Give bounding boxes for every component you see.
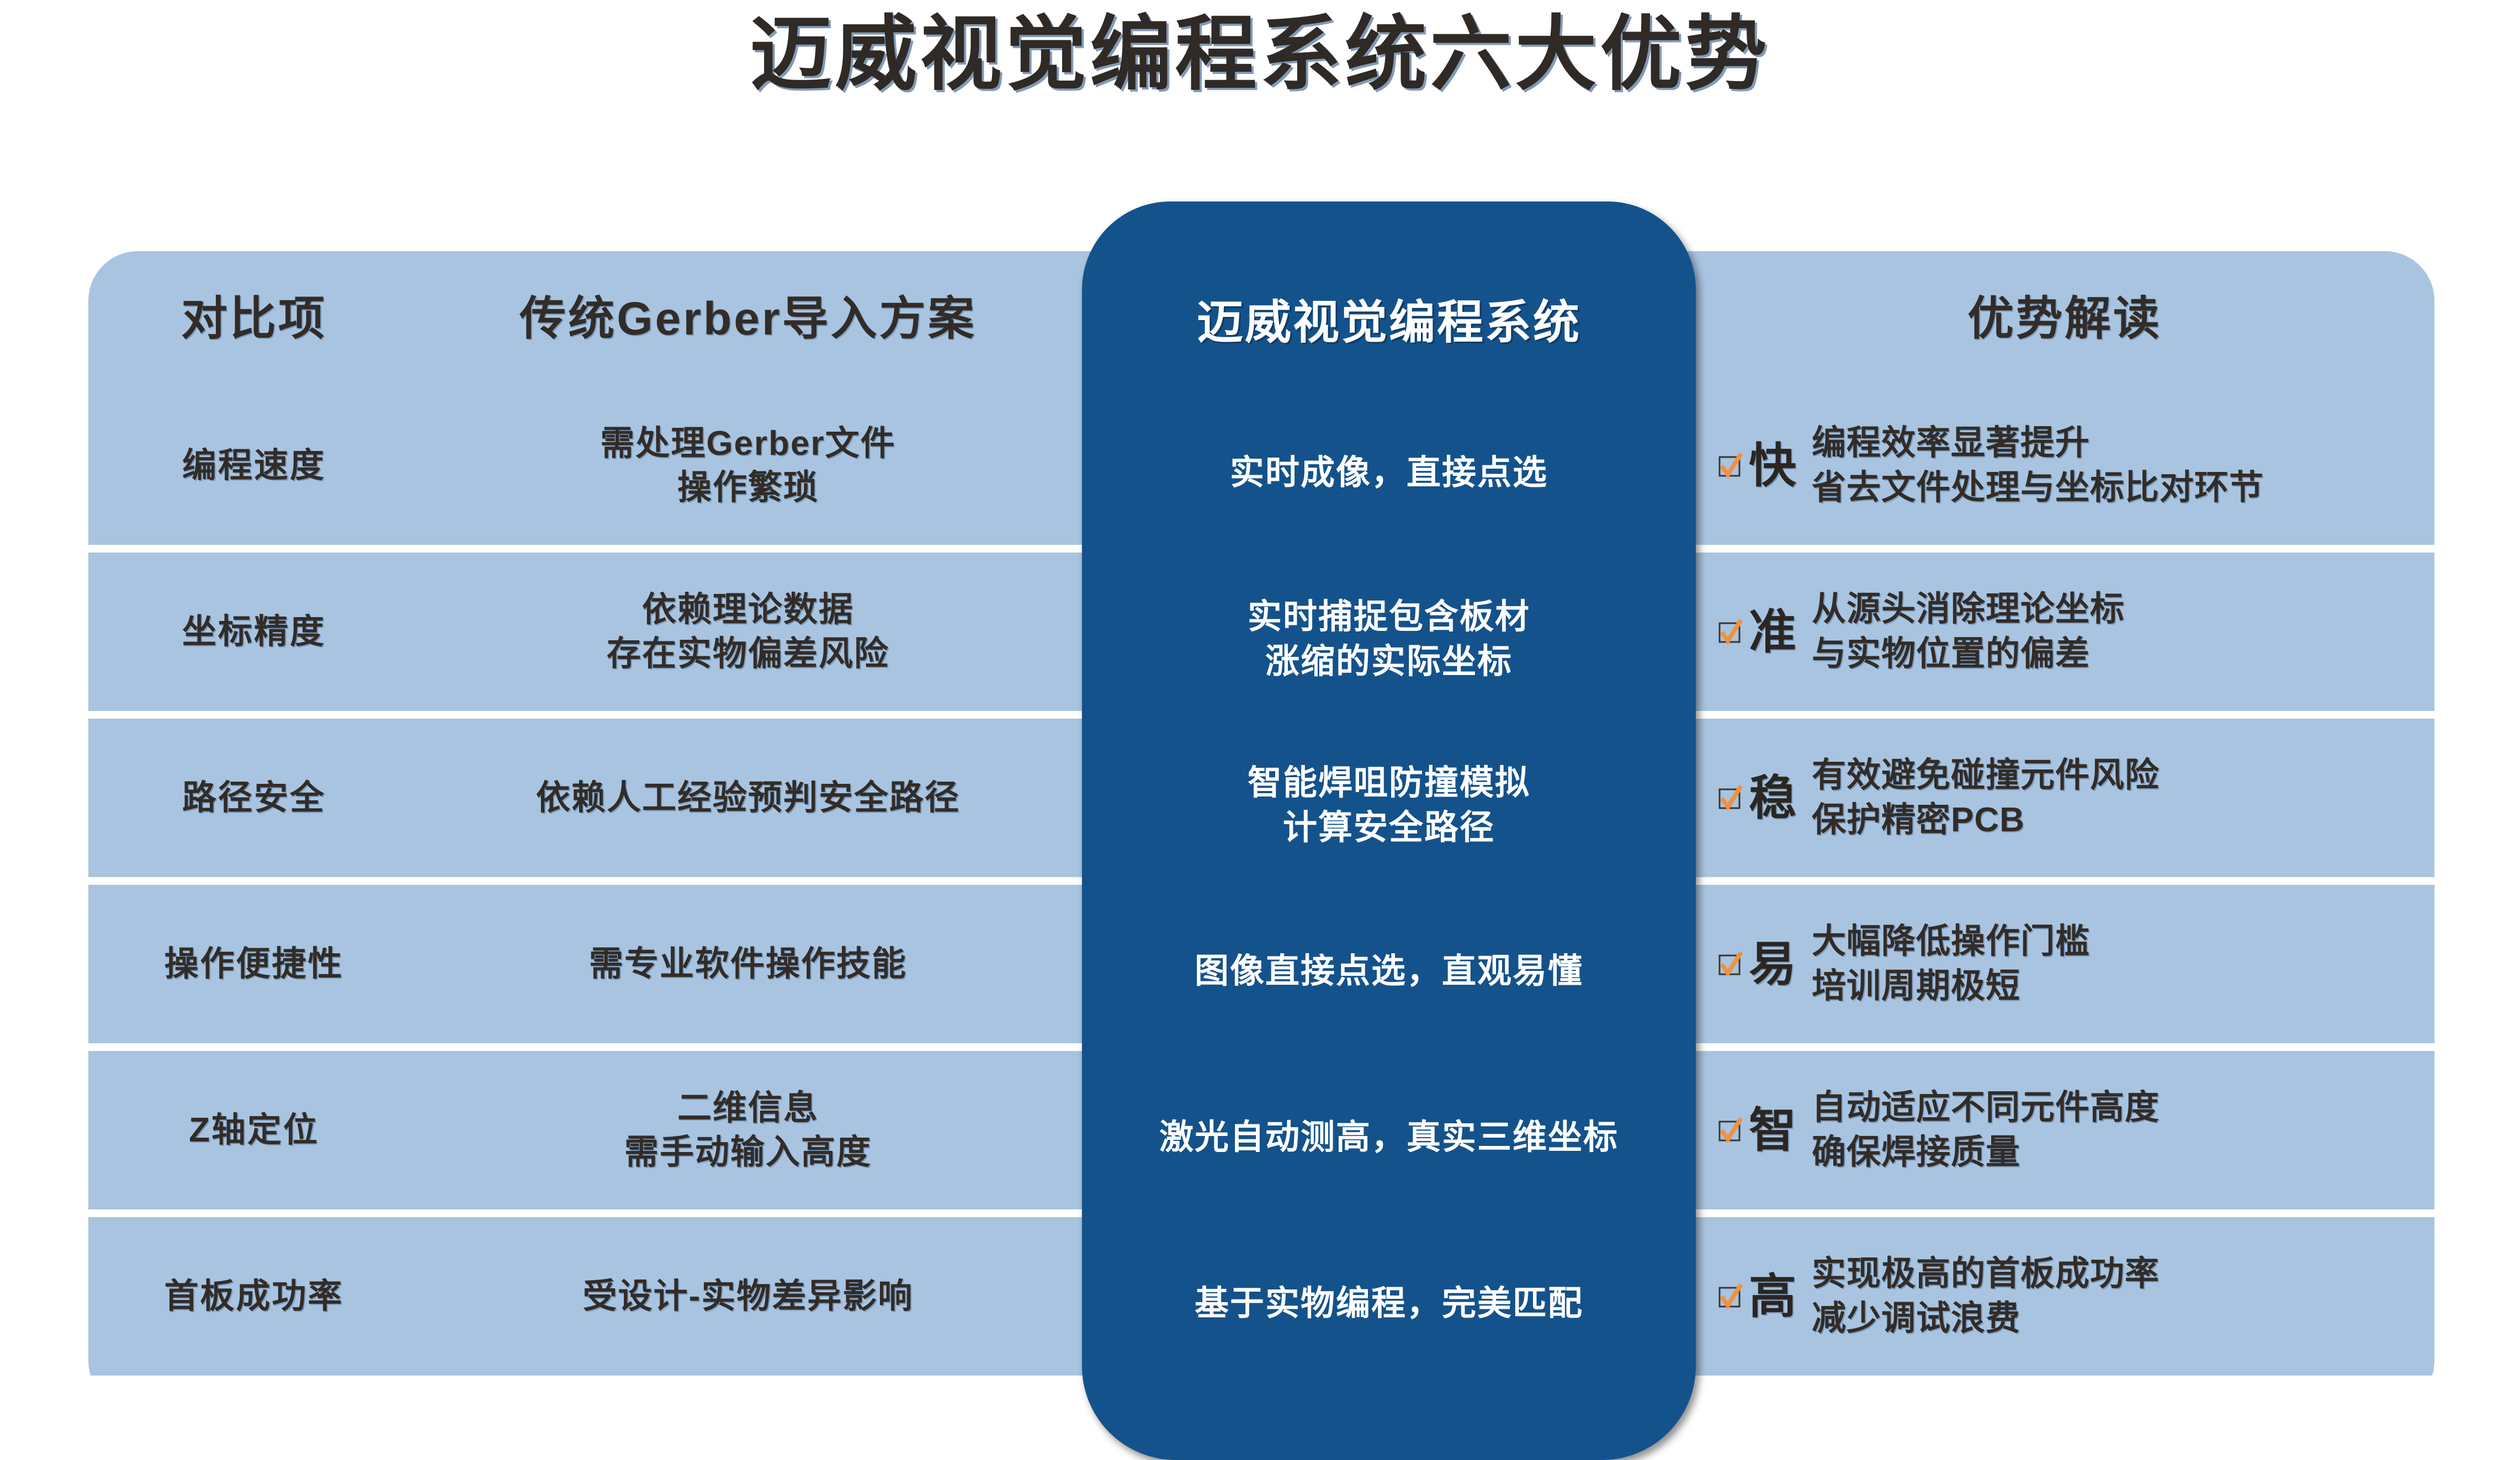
legacy-line: 依赖人工经验预判安全路径: [420, 776, 1076, 820]
benefit-keyword: 准: [1749, 608, 1797, 656]
benefit-line: 培训周期极短: [1812, 964, 2090, 1009]
benefit-line: 自动适应不同元件高度: [1812, 1086, 2160, 1130]
benefit-keyword-group: 智: [1717, 1107, 1797, 1154]
benefit-keyword: 高: [1749, 1273, 1797, 1320]
cell-benefit: 易大幅降低操作门槛培训周期极短: [1695, 920, 2434, 1008]
benefit-keyword-group: 易: [1717, 941, 1797, 988]
benefit-description: 自动适应不同元件高度确保焊接质量: [1812, 1086, 2160, 1175]
benefit-line: 实现极高的首板成功率: [1812, 1252, 2160, 1297]
benefit-line: 大幅降低操作门槛: [1812, 920, 2090, 964]
benefit-keyword: 智: [1749, 1107, 1797, 1154]
benefit-keyword-group: 稳: [1717, 774, 1797, 822]
cell-item: 路径安全: [88, 776, 420, 820]
cell-benefit: 快编程效率显著提升省去文件处理与坐标比对环节: [1695, 421, 2434, 510]
benefit-line: 编程效率显著提升: [1812, 421, 2264, 466]
legacy-line: 需手动输入高度: [420, 1130, 1076, 1174]
checkbox-checked-icon: [1717, 453, 1743, 479]
legacy-line: 存在实物偏差风险: [420, 632, 1076, 676]
benefit-keyword-group: 高: [1717, 1273, 1797, 1320]
header-cell-legacy: 传统Gerber导入方案: [420, 289, 1076, 349]
benefit-description: 实现极高的首板成功率减少调试浪费: [1812, 1252, 2160, 1341]
benefit-description: 大幅降低操作门槛培训周期极短: [1812, 920, 2090, 1008]
benefit-line: 减少调试浪费: [1812, 1297, 2160, 1341]
header-cell-item: 对比项: [88, 289, 420, 349]
benefit-keyword: 易: [1749, 941, 1797, 988]
cell-item: 首板成功率: [88, 1275, 420, 1318]
checkbox-checked-icon: [1717, 1283, 1743, 1310]
benefit-line: 保护精密PCB: [1812, 798, 2160, 843]
cell-legacy: 需专业软件操作技能: [420, 942, 1076, 986]
checkbox-checked-icon: [1717, 951, 1743, 978]
benefit-line: 与实物位置的偏差: [1812, 632, 2125, 677]
benefit-line: 确保焊接质量: [1812, 1130, 2160, 1175]
benefit-line: 省去文件处理与坐标比对环节: [1812, 466, 2264, 511]
page-title: 迈威视觉编程系统六大优势: [0, 3, 2520, 105]
cell-benefit: 稳有效避免碰撞元件风险保护精密PCB: [1695, 753, 2434, 842]
legacy-line: 二维信息: [420, 1086, 1076, 1130]
header-cell-benefit: 优势解读: [1695, 289, 2434, 349]
cell-legacy: 依赖人工经验预判安全路径: [420, 776, 1076, 820]
legacy-line: 需专业软件操作技能: [420, 942, 1076, 986]
cell-item: 编程速度: [88, 444, 420, 487]
checkbox-checked-icon: [1717, 619, 1743, 645]
cell-benefit: 准从源头消除理论坐标与实物位置的偏差: [1695, 587, 2434, 676]
cell-item: Z轴定位: [88, 1108, 420, 1152]
cell-benefit: 智自动适应不同元件高度确保焊接质量: [1695, 1086, 2434, 1175]
legacy-line: 受设计-实物差异影响: [420, 1275, 1076, 1318]
checkbox-checked-icon: [1717, 1117, 1743, 1144]
benefit-description: 编程效率显著提升省去文件处理与坐标比对环节: [1812, 421, 2264, 510]
highlight-column-maiwei: [1082, 201, 1696, 1460]
cell-item: 坐标精度: [88, 610, 420, 654]
benefit-keyword: 快: [1749, 442, 1797, 490]
cell-benefit: 高实现极高的首板成功率减少调试浪费: [1695, 1252, 2434, 1341]
benefit-description: 从源头消除理论坐标与实物位置的偏差: [1812, 587, 2125, 676]
benefit-line: 从源头消除理论坐标: [1812, 587, 2125, 632]
cell-legacy: 二维信息需手动输入高度: [420, 1086, 1076, 1174]
cell-legacy: 依赖理论数据存在实物偏差风险: [420, 588, 1076, 676]
legacy-line: 操作繁琐: [420, 466, 1076, 509]
checkbox-checked-icon: [1717, 785, 1743, 811]
benefit-keyword-group: 快: [1717, 442, 1797, 490]
comparison-table-wrapper: 对比项 传统Gerber导入方案 优势解读 编程速度需处理Gerber文件操作繁…: [88, 251, 2434, 1410]
cell-legacy: 需处理Gerber文件操作繁琐: [420, 422, 1076, 509]
cell-legacy: 受设计-实物差异影响: [420, 1275, 1076, 1318]
benefit-line: 有效避免碰撞元件风险: [1812, 753, 2160, 798]
benefit-keyword: 稳: [1749, 774, 1797, 822]
legacy-line: 依赖理论数据: [420, 588, 1076, 631]
cell-item: 操作便捷性: [88, 942, 420, 986]
legacy-line: 需处理Gerber文件: [420, 422, 1076, 465]
benefit-keyword-group: 准: [1717, 608, 1797, 656]
benefit-description: 有效避免碰撞元件风险保护精密PCB: [1812, 753, 2160, 842]
